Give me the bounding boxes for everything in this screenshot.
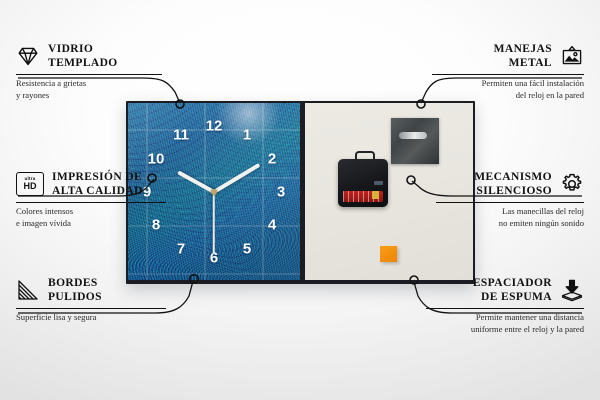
- callout-manejas-metal: MANEJAS METAL Permiten una fácil instala…: [424, 42, 584, 101]
- callout-bordes-pulidos: BORDES PULIDOS Superficie lisa y segura: [16, 276, 178, 324]
- callout-espaciador-de-espuma: ESPACIADOR DE ESPUMA Permite mantener un…: [422, 276, 584, 335]
- movement-shaft: [355, 151, 375, 163]
- callout-title: MANEJAS METAL: [494, 42, 552, 71]
- ultra-hd-badge-main: HD: [24, 182, 37, 191]
- callout-rule: [432, 74, 584, 75]
- callout-desc: Las manecillas del reloj no emiten ningú…: [424, 206, 584, 229]
- polished-edge-icon: [16, 278, 40, 302]
- callout-rule: [426, 308, 584, 309]
- metal-hanger-plate: [391, 118, 439, 164]
- callout-title: BORDES PULIDOS: [48, 276, 102, 305]
- battery-compartment: [343, 191, 383, 202]
- callout-impresion-alta-calidad: ultra HD IMPRESIÓN DE ALTA CALIDAD Color…: [16, 170, 184, 229]
- callout-rule: [436, 202, 584, 203]
- battery-terminal: [372, 191, 379, 199]
- clock-numeral-4: 4: [268, 218, 276, 233]
- clock-numeral-2: 2: [268, 152, 276, 167]
- callout-title: IMPRESIÓN DE ALTA CALIDAD: [52, 170, 143, 199]
- callout-rule: [16, 202, 166, 203]
- quartz-movement: [338, 159, 388, 207]
- gear-icon: [560, 172, 584, 196]
- callout-desc: Colores intensos e imagen vívida: [16, 206, 184, 229]
- clock-numeral-11: 11: [173, 128, 189, 143]
- callout-desc: Resistencia a grietas y rayones: [16, 78, 176, 101]
- clock-numeral-5: 5: [243, 242, 251, 257]
- clock-second-hand: [213, 192, 215, 254]
- clock-numeral-12: 12: [206, 119, 223, 134]
- callout-rule: [16, 74, 162, 75]
- clock-numeral-7: 7: [177, 242, 185, 257]
- callout-desc: Permite mantener una distancia uniforme …: [422, 312, 584, 335]
- callout-title: MECANISMO SILENCIOSO: [474, 170, 552, 199]
- callout-desc: Superficie lisa y segura: [16, 312, 178, 324]
- hanger-slot: [399, 132, 427, 139]
- callout-title: ESPACIADOR DE ESPUMA: [473, 276, 552, 305]
- ultra-hd-badge-icon: ultra HD: [16, 172, 44, 196]
- clock-numeral-10: 10: [148, 152, 165, 167]
- product-infographic: 12 1 2 3 4 5 6 7 8 9 10 11: [0, 0, 600, 400]
- clock-numeral-3: 3: [277, 185, 285, 200]
- clock-center-cap: [211, 189, 217, 195]
- arrow-down-pad-icon: [560, 278, 584, 302]
- callout-title: VIDRIO TEMPLADO: [48, 42, 118, 71]
- callout-rule: [16, 308, 166, 309]
- picture-frame-hanger-icon: [560, 44, 584, 68]
- callout-desc: Permiten una fácil instalación del reloj…: [424, 78, 584, 101]
- diamond-icon: [16, 44, 40, 68]
- clock-numeral-1: 1: [243, 128, 251, 143]
- callout-mecanismo-silencioso: MECANISMO SILENCIOSO Las manecillas del …: [424, 170, 584, 229]
- movement-chip: [374, 181, 383, 185]
- callout-vidrio-templado: VIDRIO TEMPLADO Resistencia a grietas y …: [16, 42, 176, 101]
- foam-spacer: [380, 246, 397, 262]
